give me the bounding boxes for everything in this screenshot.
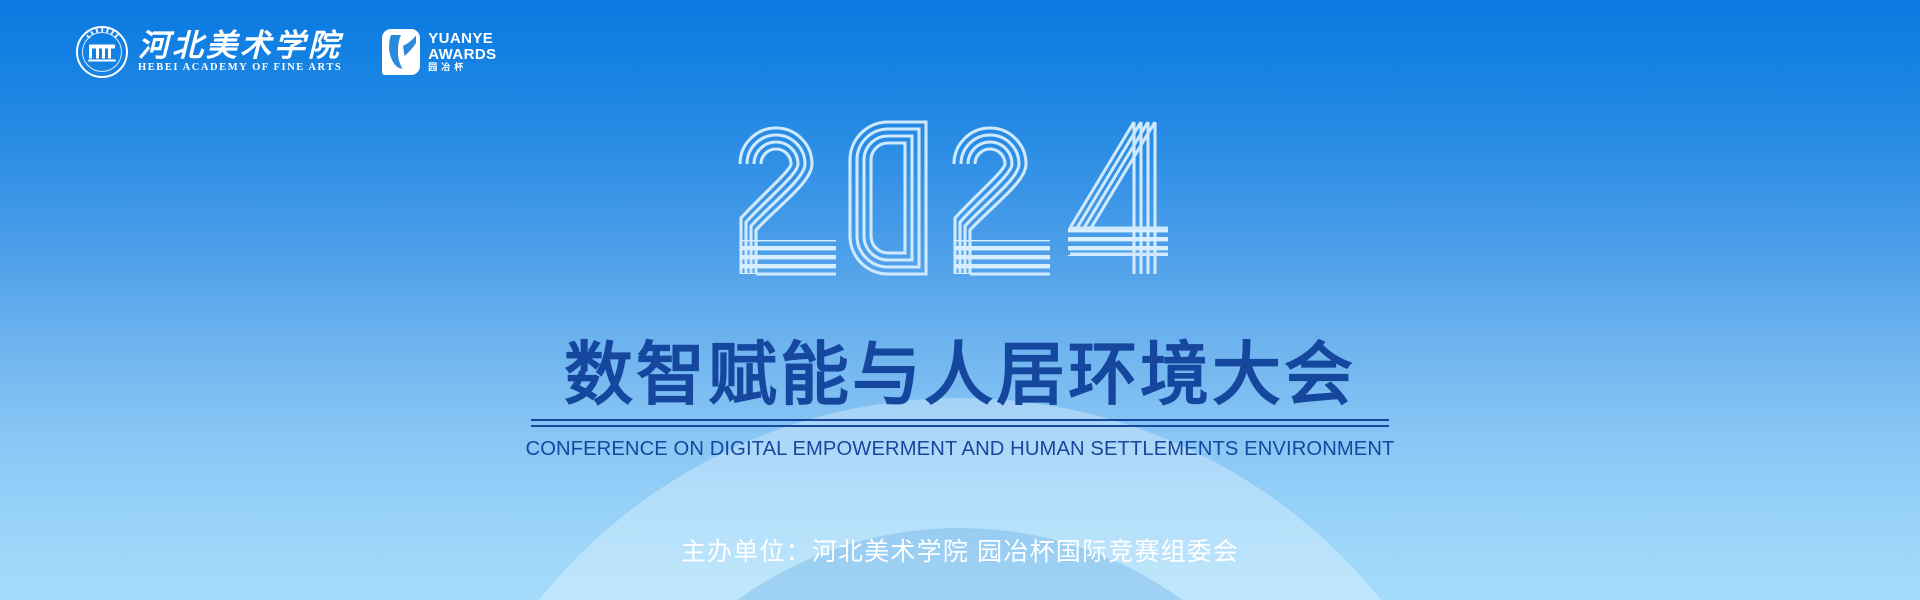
hebei-wordmark: 河北美术学院 HEBEI ACADEMY OF FINE ARTS [138, 30, 342, 74]
logo-yuanye-awards[interactable]: YUANYE AWARDS 园冶杯 [382, 29, 496, 75]
year-2024-artwork [730, 112, 1190, 297]
yuanye-line2: AWARDS [428, 47, 496, 62]
title-divider [531, 419, 1389, 427]
yuanye-wordmark: YUANYE AWARDS 园冶杯 [428, 31, 496, 73]
yuanye-name-cn: 园冶杯 [428, 63, 496, 73]
headline-block: 数智赋能与人居环境大会 CONFERENCE ON DIGITAL EMPOWE… [510, 338, 1410, 461]
seal-gate-glyph-icon [89, 45, 115, 62]
hebei-name-en: HEBEI ACADEMY OF FINE ARTS [138, 63, 342, 74]
year-digit-4 [1068, 122, 1168, 274]
conference-banner: 河北美术学院 HEBEI ACADEMY OF FINE ARTS YUANYE… [0, 0, 1920, 600]
yuanye-swoosh-icon [387, 34, 417, 70]
hebei-name-cn: 河北美术学院 [138, 30, 342, 61]
year-digit-0 [850, 122, 926, 274]
yuanye-line1: YUANYE [428, 31, 496, 46]
yuanye-mark-icon [382, 29, 420, 75]
hebei-seal-icon [76, 26, 128, 78]
logo-hebei-academy[interactable]: 河北美术学院 HEBEI ACADEMY OF FINE ARTS [76, 26, 342, 78]
year-digit-2a [740, 128, 836, 274]
page-title-en: CONFERENCE ON DIGITAL EMPOWERMENT AND HU… [517, 437, 1404, 461]
divider-rule-2 [531, 425, 1389, 427]
year-digit-2b [954, 128, 1050, 274]
organizer-line: 主办单位：河北美术学院 园冶杯国际竞赛组委会 [681, 532, 1239, 568]
logo-bar: 河北美术学院 HEBEI ACADEMY OF FINE ARTS YUANYE… [76, 26, 497, 78]
page-title-cn: 数智赋能与人居环境大会 [510, 338, 1410, 411]
divider-rule-1 [531, 419, 1389, 421]
